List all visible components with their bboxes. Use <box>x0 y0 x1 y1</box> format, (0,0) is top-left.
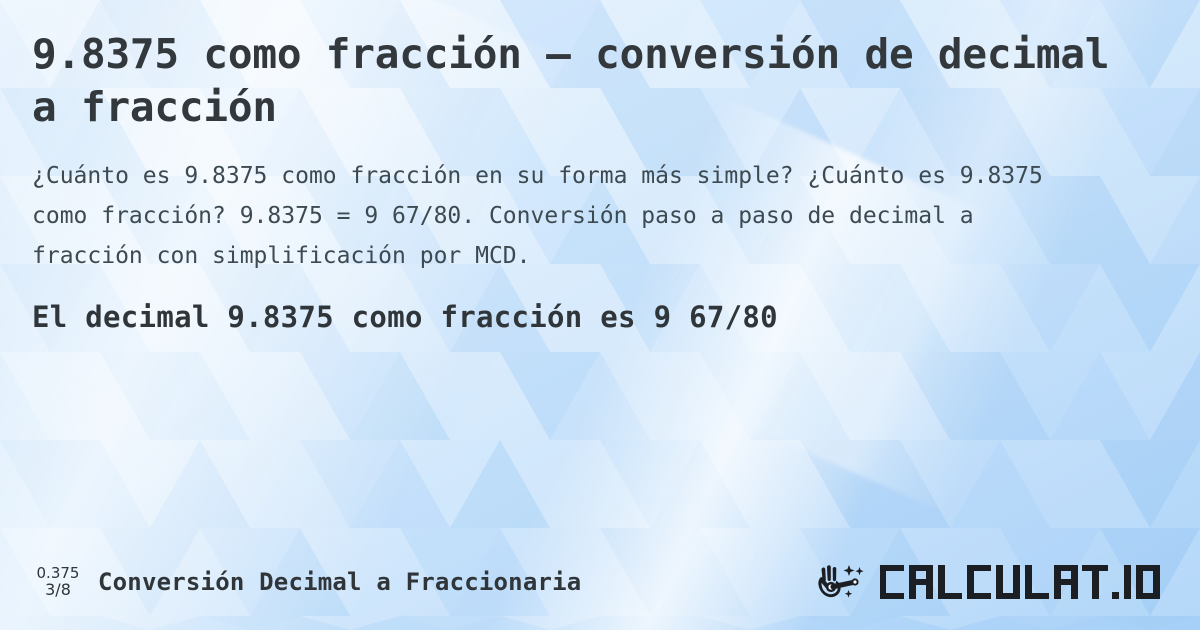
magic-wand-hand-icon <box>816 560 874 604</box>
icon-decimal-value: 0.375 <box>37 565 80 581</box>
decimal-to-fraction-icon: 0.375 3/8 <box>32 565 84 598</box>
answer-statement: El decimal 9.8375 como fracción es 9 67/… <box>32 276 1168 336</box>
logo-wordmark <box>878 560 1170 604</box>
icon-fraction-value: 3/8 <box>45 581 71 598</box>
footer-brand-left: 0.375 3/8 Conversión Decimal a Fracciona… <box>32 565 581 598</box>
share-card: 9.8375 como fracción – conversión de dec… <box>0 0 1200 630</box>
page-title: 9.8375 como fracción – conversión de dec… <box>32 0 1142 134</box>
footer-section-title: Conversión Decimal a Fraccionaria <box>98 568 581 596</box>
footer: 0.375 3/8 Conversión Decimal a Fracciona… <box>32 560 1170 604</box>
content-area: 9.8375 como fracción – conversión de dec… <box>0 0 1200 630</box>
site-logo[interactable]: CALCULAT.IO <box>816 560 1170 604</box>
page-description: ¿Cuánto es 9.8375 como fracción en su fo… <box>32 134 1092 276</box>
